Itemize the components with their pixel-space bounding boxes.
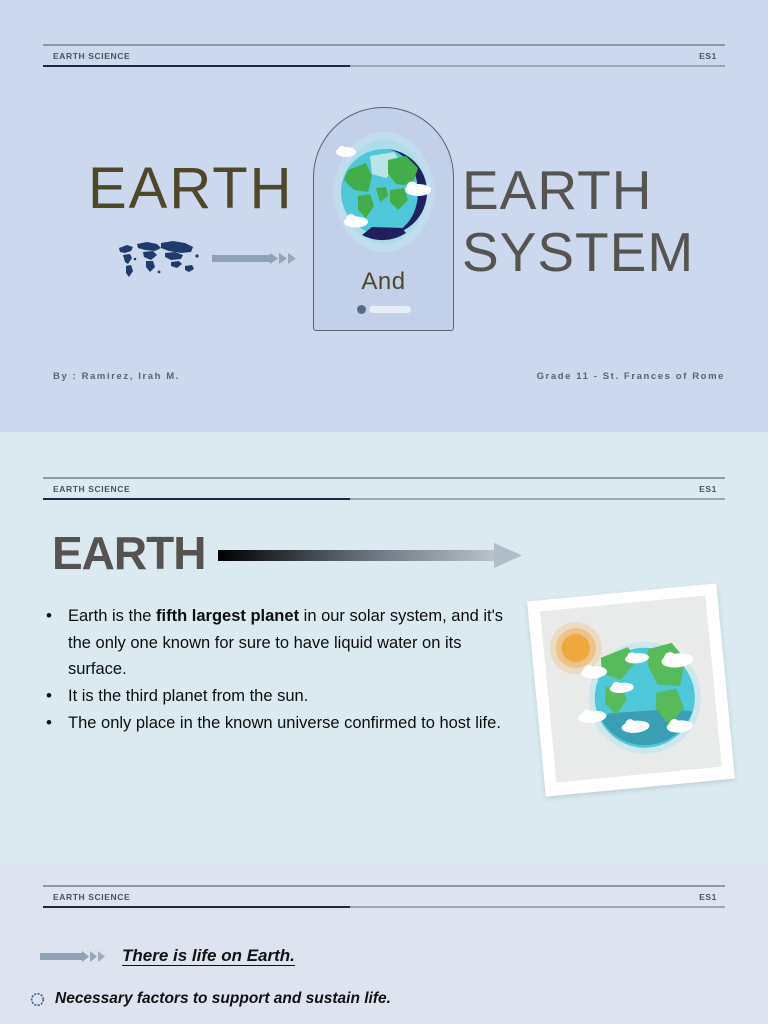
ring-bullet-icon [30,992,45,1007]
list-item: The only place in the known universe con… [40,710,520,737]
slide-header: EARTH SCIENCE ES1 [43,477,725,500]
slide-earth[interactable]: EARTH SCIENCE ES1 EARTH Earth is the fif… [0,432,768,864]
progress-dot-icon [357,305,411,314]
earth-globe-icon [332,130,437,255]
page-title: EARTH [52,530,205,576]
bullet-text-0: Earth is the fifth largest planet in our… [68,607,503,678]
header-rule-bottom [43,498,725,500]
list-item: It is the third planet from the sun. [40,683,520,710]
arrow-right-icon [218,543,524,569]
header-rule-bottom [43,906,725,908]
progress-dot [357,305,366,314]
header-code-label: ES1 [699,892,717,902]
earth-photo-card [527,583,735,796]
arch-emblem: And [313,107,454,331]
affiliation-label: Grade 11 - St. Frances of Rome [537,371,725,382]
slide-title[interactable]: EARTH SCIENCE ES1 EARTH EARTH SYSTEM [0,0,768,432]
header-subject-label: EARTH SCIENCE [53,484,130,494]
byline: By : Ramirez, Irah M. Grade 11 - St. Fra… [53,371,725,382]
header-subject-label: EARTH SCIENCE [53,51,130,61]
list-item: Earth is the fifth largest planet in our… [40,603,520,683]
bullet-text-1: It is the third planet from the sun. [68,687,308,705]
presentation-scroll-view[interactable]: EARTH SCIENCE ES1 EARTH EARTH SYSTEM [0,0,768,1024]
bullet-text-2: The only place in the known universe con… [68,714,501,732]
arrow-right-icon [212,252,298,265]
header-subject-label: EARTH SCIENCE [53,892,130,902]
author-label: By : Ramirez, Irah M. [53,371,180,382]
factors-row: Necessary factors to support and sustain… [30,990,391,1008]
title-words-right: EARTH SYSTEM [462,160,732,283]
life-statement-label: There is life on Earth. [122,946,295,966]
slide-life[interactable]: EARTH SCIENCE ES1 There is life on Earth… [0,864,768,1024]
arrow-right-icon [40,950,108,963]
factors-label: Necessary factors to support and sustain… [55,990,391,1008]
progress-bar [369,306,411,313]
header-code-label: ES1 [699,484,717,494]
header-code-label: ES1 [699,51,717,61]
bullet-list: Earth is the fifth largest planet in our… [40,603,520,737]
slide-header: EARTH SCIENCE ES1 [43,44,725,67]
title-word-left: EARTH [88,160,294,218]
emblem-and-label: And [314,268,453,296]
header-rule-bottom [43,65,725,67]
slide-header: EARTH SCIENCE ES1 [43,885,725,908]
life-statement-row: There is life on Earth. [40,946,295,966]
world-map-icon [113,238,201,280]
earth-and-sun-illustration [540,595,722,782]
